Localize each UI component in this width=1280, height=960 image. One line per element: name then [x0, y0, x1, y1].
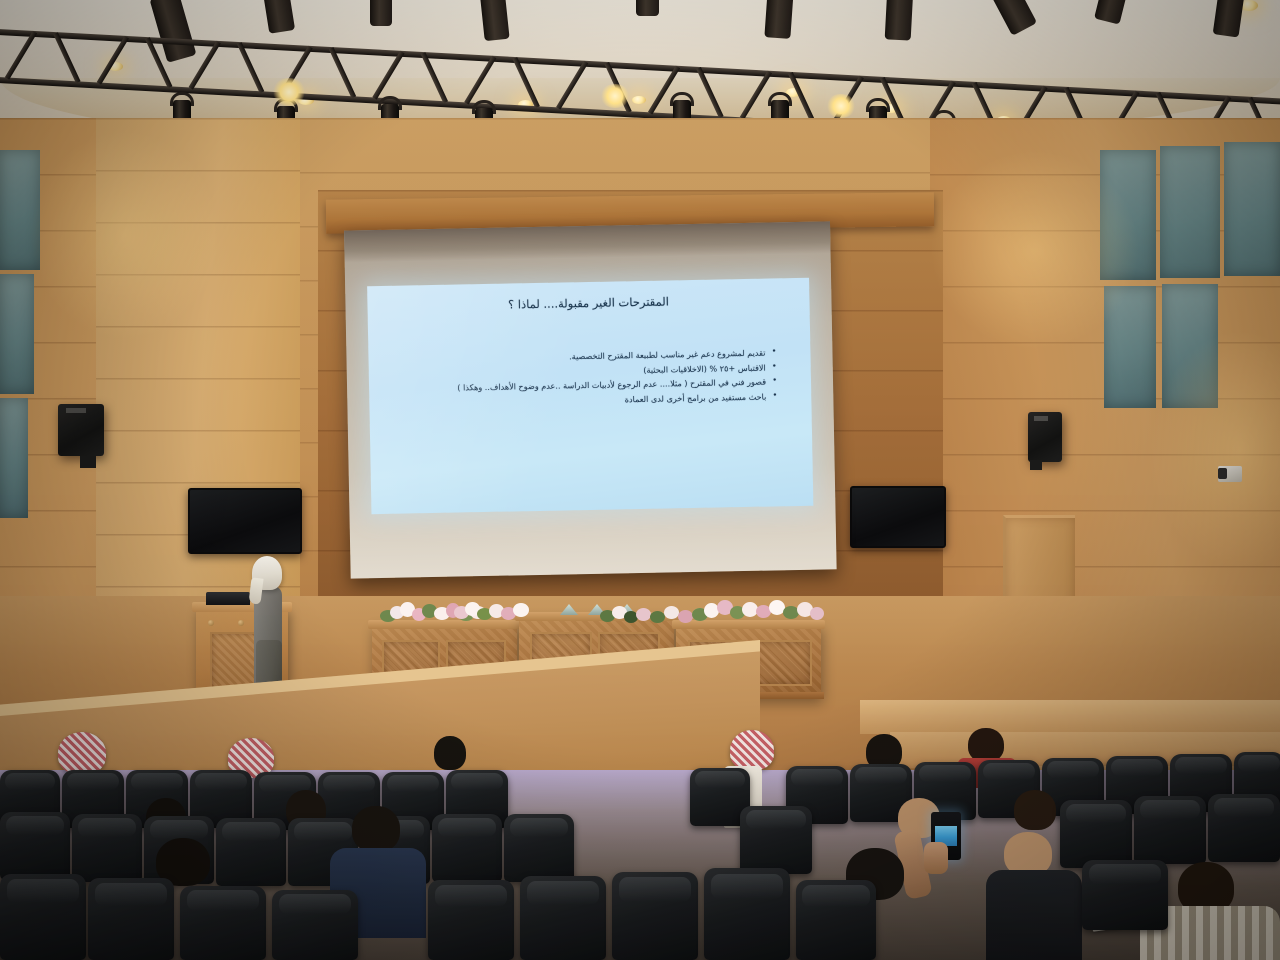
wall-monitor-right: [850, 486, 946, 548]
wall-camera-lens-icon: [1218, 468, 1227, 479]
auditorium-seat: [180, 886, 266, 960]
head-table-right-panel: [752, 640, 812, 686]
auditorium-seat: [432, 814, 502, 882]
floral-arrangement: [454, 598, 532, 622]
wall-speaker-left: [58, 404, 104, 456]
acoustic-panel-right: [1160, 146, 1220, 278]
audience-ghutra: [58, 732, 106, 774]
auditorium-seat: [740, 806, 812, 874]
acoustic-panel-left: [0, 274, 34, 394]
auditorium-seat: [612, 872, 698, 960]
audience-head: [968, 728, 1004, 762]
auditorium-seat: [704, 868, 790, 960]
auditorium-seat: [0, 812, 70, 880]
auditorium-seat: [216, 818, 286, 886]
auditorium-seat: [0, 874, 86, 960]
laptop-on-podium: [206, 592, 250, 605]
slide-bullet-list: تقديم لمشروع دعم غير مناسب لطبيعة المقتر…: [402, 346, 777, 412]
auditorium-seat: [504, 814, 574, 882]
spotlight-glow: [600, 84, 630, 108]
slide-title: المقترحات الغير مقبولة.... لماذا ؟: [367, 292, 809, 314]
auditorium-seat: [1082, 860, 1168, 930]
audience-hand: [924, 842, 948, 874]
auditorium-seat: [796, 880, 876, 960]
auditorium-scene: المقترحات الغير مقبولة.... لماذا ؟ تقديم…: [0, 0, 1280, 960]
auditorium-seat: [1060, 800, 1132, 868]
ceiling-pendant-speaker: [636, 0, 659, 16]
auditorium-seat: [1134, 796, 1206, 864]
auditorium-seat: [72, 814, 142, 882]
auditorium-seat: [272, 890, 358, 960]
spotlight-glow: [826, 94, 856, 118]
audience-head: [434, 736, 466, 770]
wall-speaker-right-bracket: [1030, 460, 1042, 470]
auditorium-seat: [428, 880, 514, 960]
auditorium-seat: [88, 878, 174, 960]
audience-torso: [986, 870, 1082, 960]
projection-screen: المقترحات الغير مقبولة.... لماذا ؟ تقديم…: [344, 221, 837, 578]
audience-head: [1014, 790, 1056, 830]
podium-knob: [208, 620, 214, 626]
wall-light-wash: [30, 130, 220, 340]
auditorium-seat: [1208, 794, 1280, 862]
wall-light-wash: [930, 150, 1140, 350]
wall-speaker-left-bracket: [80, 456, 96, 468]
spotlight-glow: [272, 78, 306, 106]
podium-knob: [238, 620, 244, 626]
floral-arrangement: [692, 596, 824, 624]
acoustic-panel-left: [0, 398, 28, 518]
stage-step: [860, 700, 1280, 734]
wall-monitor-left: [188, 488, 302, 554]
wall-speaker-right: [1028, 412, 1062, 462]
ceiling-pendant-speaker: [370, 0, 392, 26]
acoustic-panel-right: [1224, 142, 1280, 276]
auditorium-seat: [520, 876, 606, 960]
presentation-slide: المقترحات الغير مقبولة.... لماذا ؟ تقديم…: [367, 278, 813, 514]
audience-ghutra: [730, 730, 774, 770]
audience-head: [352, 806, 400, 852]
